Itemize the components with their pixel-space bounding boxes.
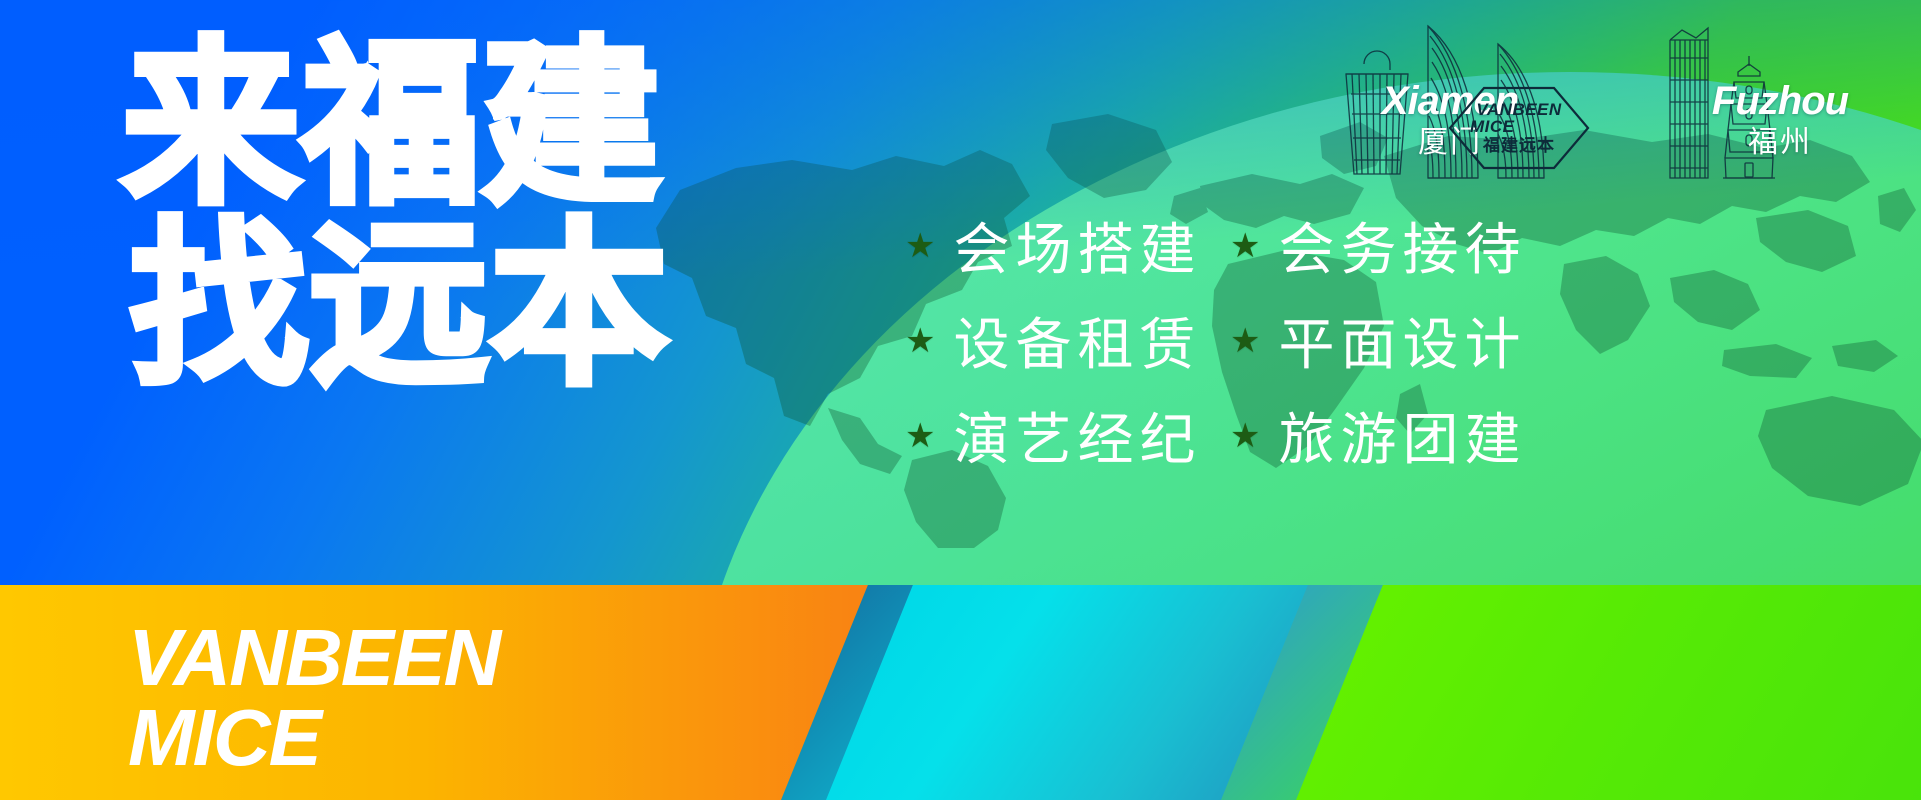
star-icon: ★ bbox=[1230, 324, 1260, 358]
brand-footer-bar: VANBEEN MICE bbox=[0, 585, 1921, 800]
vanbeen-hex-logo[interactable]: VANBEEN MICE 福建远本 bbox=[1448, 86, 1590, 170]
headline-line-2: 找远本 bbox=[130, 221, 670, 392]
service-label: 旅游团建 bbox=[1278, 395, 1526, 476]
service-item[interactable]: ★ 演艺经纪 bbox=[905, 395, 1220, 476]
star-icon: ★ bbox=[1230, 419, 1260, 453]
city-label-fuzhou: Fuzhou 福州 bbox=[1695, 81, 1865, 162]
service-list: ★ 会场搭建 ★ 会务接待 ★ 设备租赁 ★ 平面设计 ★ 演艺经纪 ★ 旅游团… bbox=[905, 205, 1545, 476]
service-item[interactable]: ★ 会务接待 bbox=[1230, 205, 1545, 286]
page-title: 来福建 找远本 bbox=[122, 40, 670, 392]
service-label: 会场搭建 bbox=[953, 205, 1201, 286]
star-icon: ★ bbox=[905, 229, 935, 263]
service-item[interactable]: ★ 平面设计 bbox=[1230, 300, 1545, 381]
banner-hero-area: 来福建 找远本 ★ 会场搭建 ★ 会务接待 ★ 设备租赁 ★ 平面设计 ★ bbox=[0, 0, 1921, 585]
wordmark-line-1: VANBEEN bbox=[128, 621, 499, 695]
hex-logo-line-1: VANBEEN bbox=[1476, 101, 1561, 118]
footer-band-green bbox=[1274, 585, 1921, 800]
headline-line-1: 来福建 bbox=[122, 40, 670, 211]
star-icon: ★ bbox=[1230, 229, 1260, 263]
city-name-cn: 福州 bbox=[1695, 124, 1865, 162]
city-logo-cluster: Xiamen 厦门 VANBEEN MICE 福建远本 bbox=[1300, 6, 1920, 186]
star-icon: ★ bbox=[905, 324, 935, 358]
wordmark-line-2: MICE bbox=[128, 701, 499, 775]
service-label: 平面设计 bbox=[1278, 300, 1526, 381]
service-item[interactable]: ★ 设备租赁 bbox=[905, 300, 1220, 381]
service-item[interactable]: ★ 会场搭建 bbox=[905, 205, 1220, 286]
service-label: 会务接待 bbox=[1278, 205, 1526, 286]
star-icon: ★ bbox=[905, 419, 935, 453]
brand-wordmark: VANBEEN MICE bbox=[128, 621, 499, 774]
hex-logo-line-3: 福建远本 bbox=[1483, 138, 1555, 155]
service-label: 设备租赁 bbox=[953, 300, 1201, 381]
service-item[interactable]: ★ 旅游团建 bbox=[1230, 395, 1545, 476]
promotional-banner: 来福建 找远本 ★ 会场搭建 ★ 会务接待 ★ 设备租赁 ★ 平面设计 ★ bbox=[0, 0, 1921, 800]
hex-logo-line-2: MICE bbox=[1470, 118, 1515, 135]
city-name-en: Fuzhou bbox=[1695, 81, 1865, 121]
service-label: 演艺经纪 bbox=[953, 395, 1201, 476]
